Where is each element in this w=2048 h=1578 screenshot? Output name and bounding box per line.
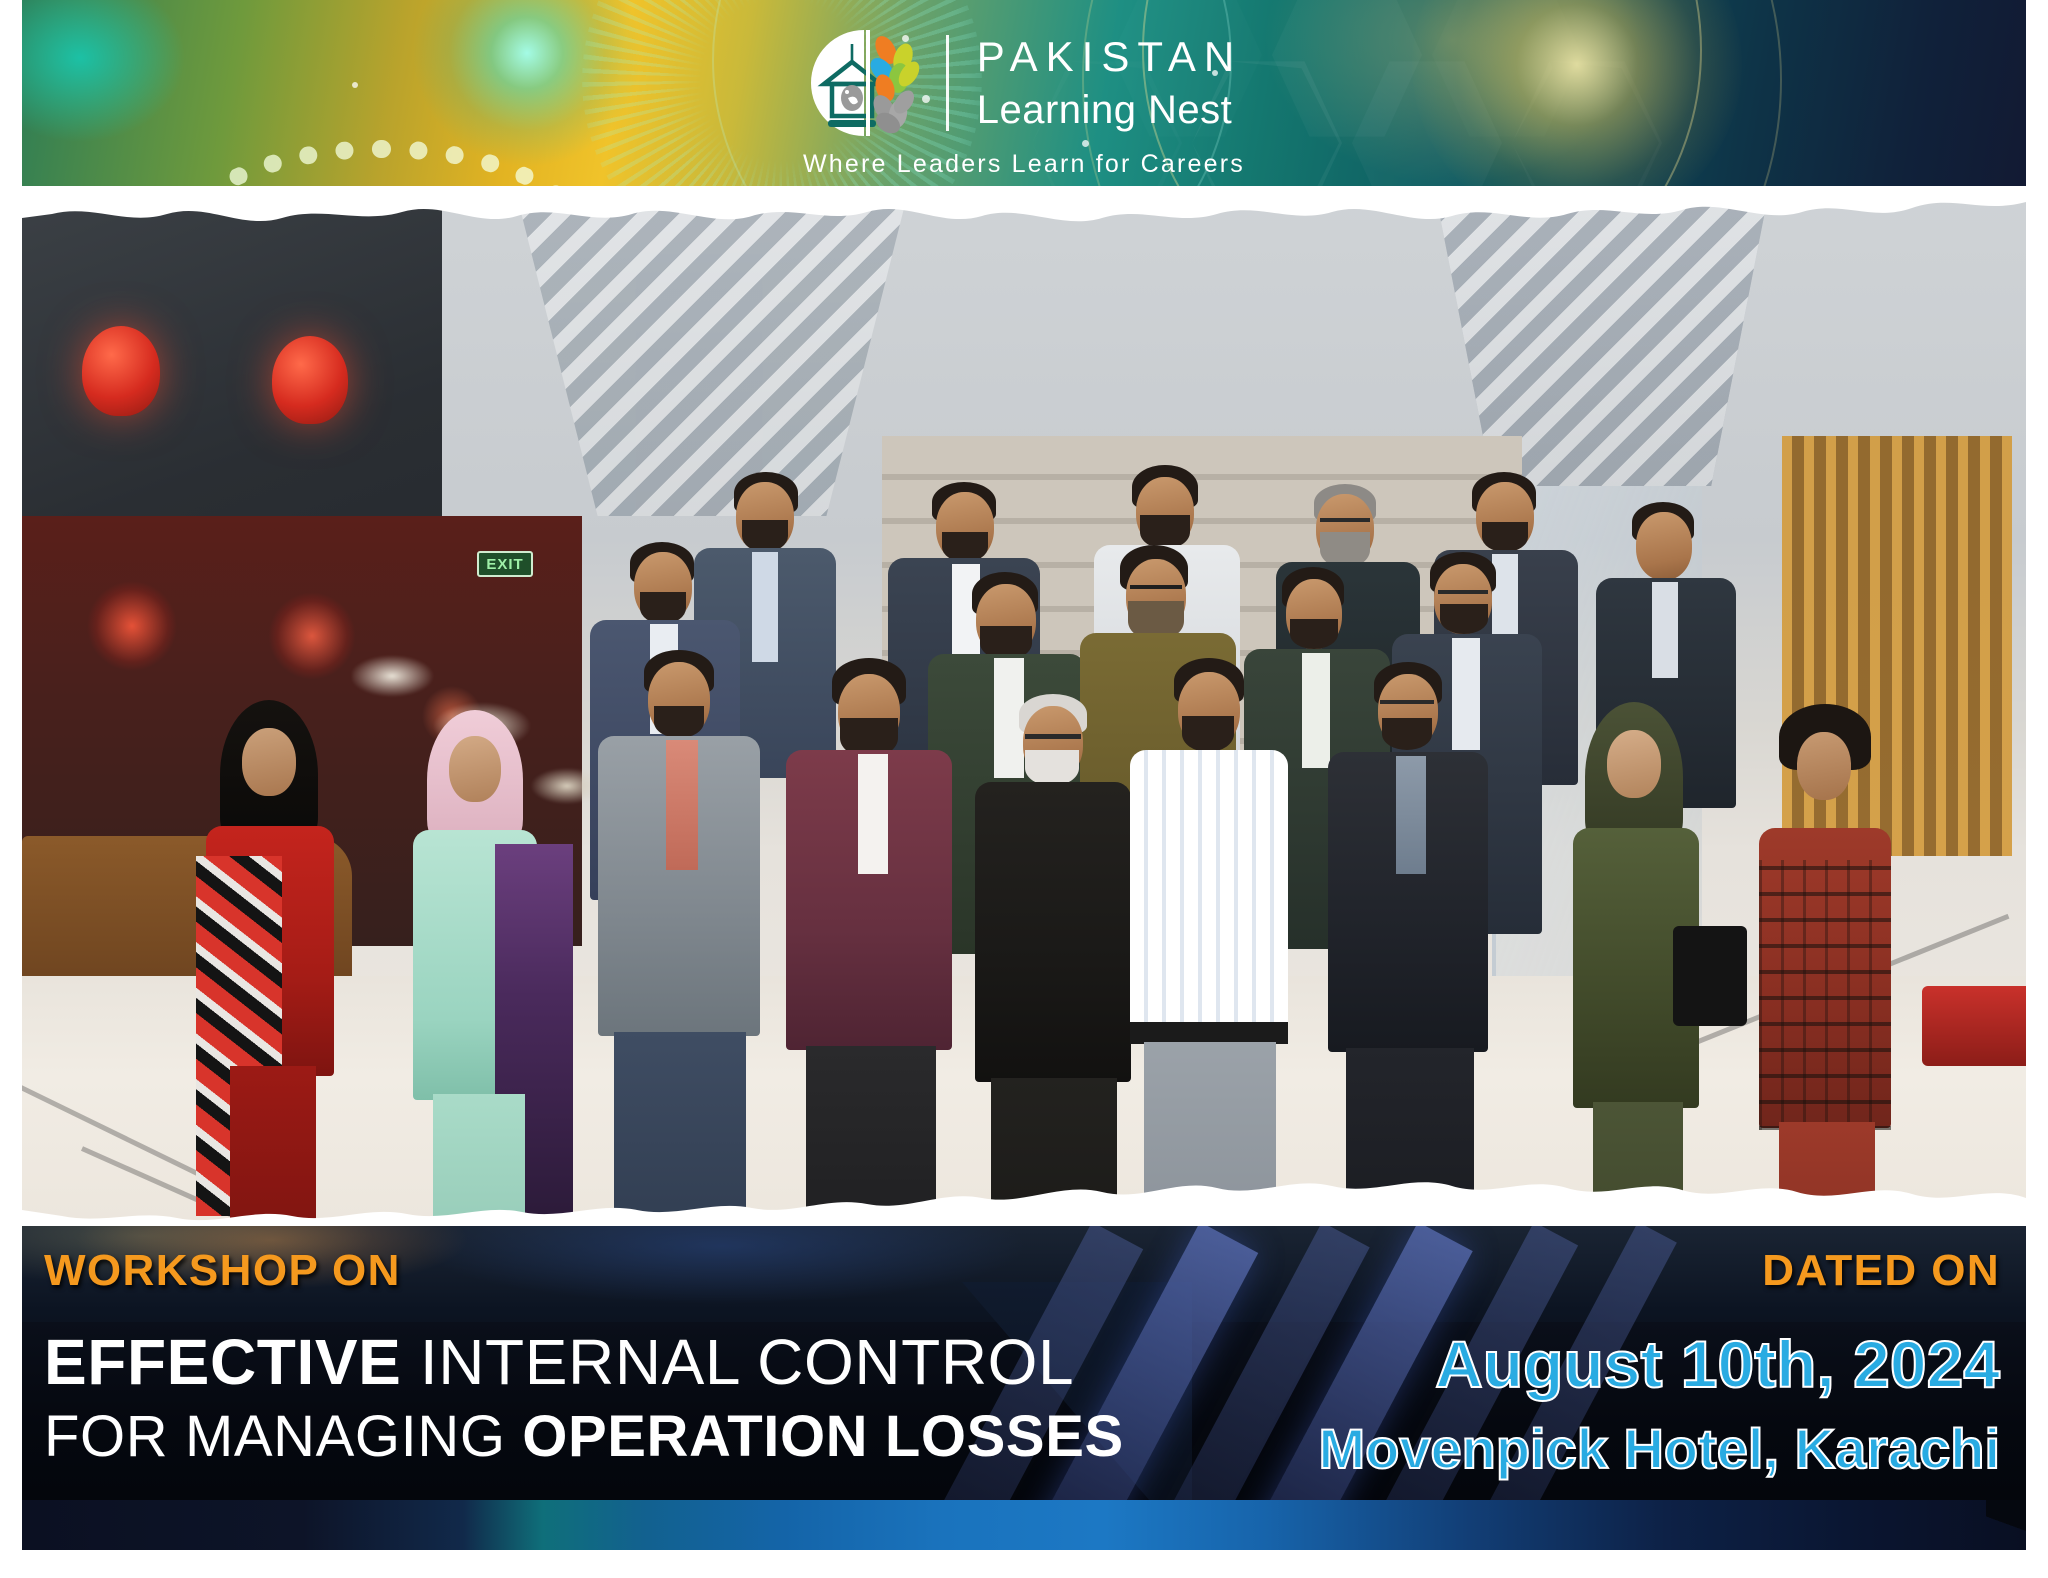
title-bold-1: EFFECTIVE — [44, 1326, 401, 1398]
birdhouse-tree-logo-icon — [806, 28, 924, 138]
group-photo: EXIT — [22, 186, 2026, 1226]
title-light-2: FOR MANAGING — [44, 1404, 506, 1469]
workshop-flyer: PAKISTAN Learning Nest Where Leaders Lea… — [0, 0, 2048, 1578]
banner-left-content: WORKSHOP ON EFFECTIVE INTERNAL CONTROL F… — [44, 1246, 1124, 1466]
glasses-icon — [1025, 734, 1081, 739]
exit-sign: EXIT — [477, 551, 533, 577]
luggage-cart — [1922, 986, 2026, 1066]
title-bold-2: OPERATION LOSSES — [522, 1404, 1124, 1469]
title-light-1: INTERNAL CONTROL — [420, 1326, 1074, 1398]
workshop-kicker: WORKSHOP ON — [44, 1246, 1124, 1296]
logo-divider — [946, 35, 949, 131]
glasses-icon — [1130, 585, 1182, 589]
lantern-icon — [82, 326, 160, 416]
brand-name-primary: PAKISTAN — [977, 36, 1243, 78]
event-venue: Movenpick Hotel, Karachi — [1318, 1416, 2000, 1481]
glasses-icon — [1438, 590, 1488, 594]
handbag — [1673, 926, 1747, 1026]
header-band: PAKISTAN Learning Nest Where Leaders Lea… — [22, 0, 2026, 186]
brand-logo-group: PAKISTAN Learning Nest Where Leaders Lea… — [803, 28, 1245, 179]
workshop-title-line-2: FOR MANAGING OPERATION LOSSES — [44, 1408, 1124, 1466]
banner-right-content: DATED ON August 10th, 2024 Movenpick Hot… — [1318, 1246, 2000, 1481]
bottom-blue-strip — [22, 1500, 2026, 1550]
dated-on-kicker: DATED ON — [1318, 1246, 2000, 1296]
glasses-icon — [1320, 518, 1370, 522]
workshop-title-line-1: EFFECTIVE INTERNAL CONTROL — [44, 1330, 1124, 1394]
brand-name-secondary: Learning Nest — [977, 90, 1243, 130]
lantern-icon — [272, 336, 348, 424]
glow-dot — [352, 82, 358, 88]
event-date: August 10th, 2024 — [1318, 1326, 2000, 1402]
glasses-icon — [1380, 700, 1434, 704]
brand-tagline: Where Leaders Learn for Careers — [803, 150, 1245, 179]
